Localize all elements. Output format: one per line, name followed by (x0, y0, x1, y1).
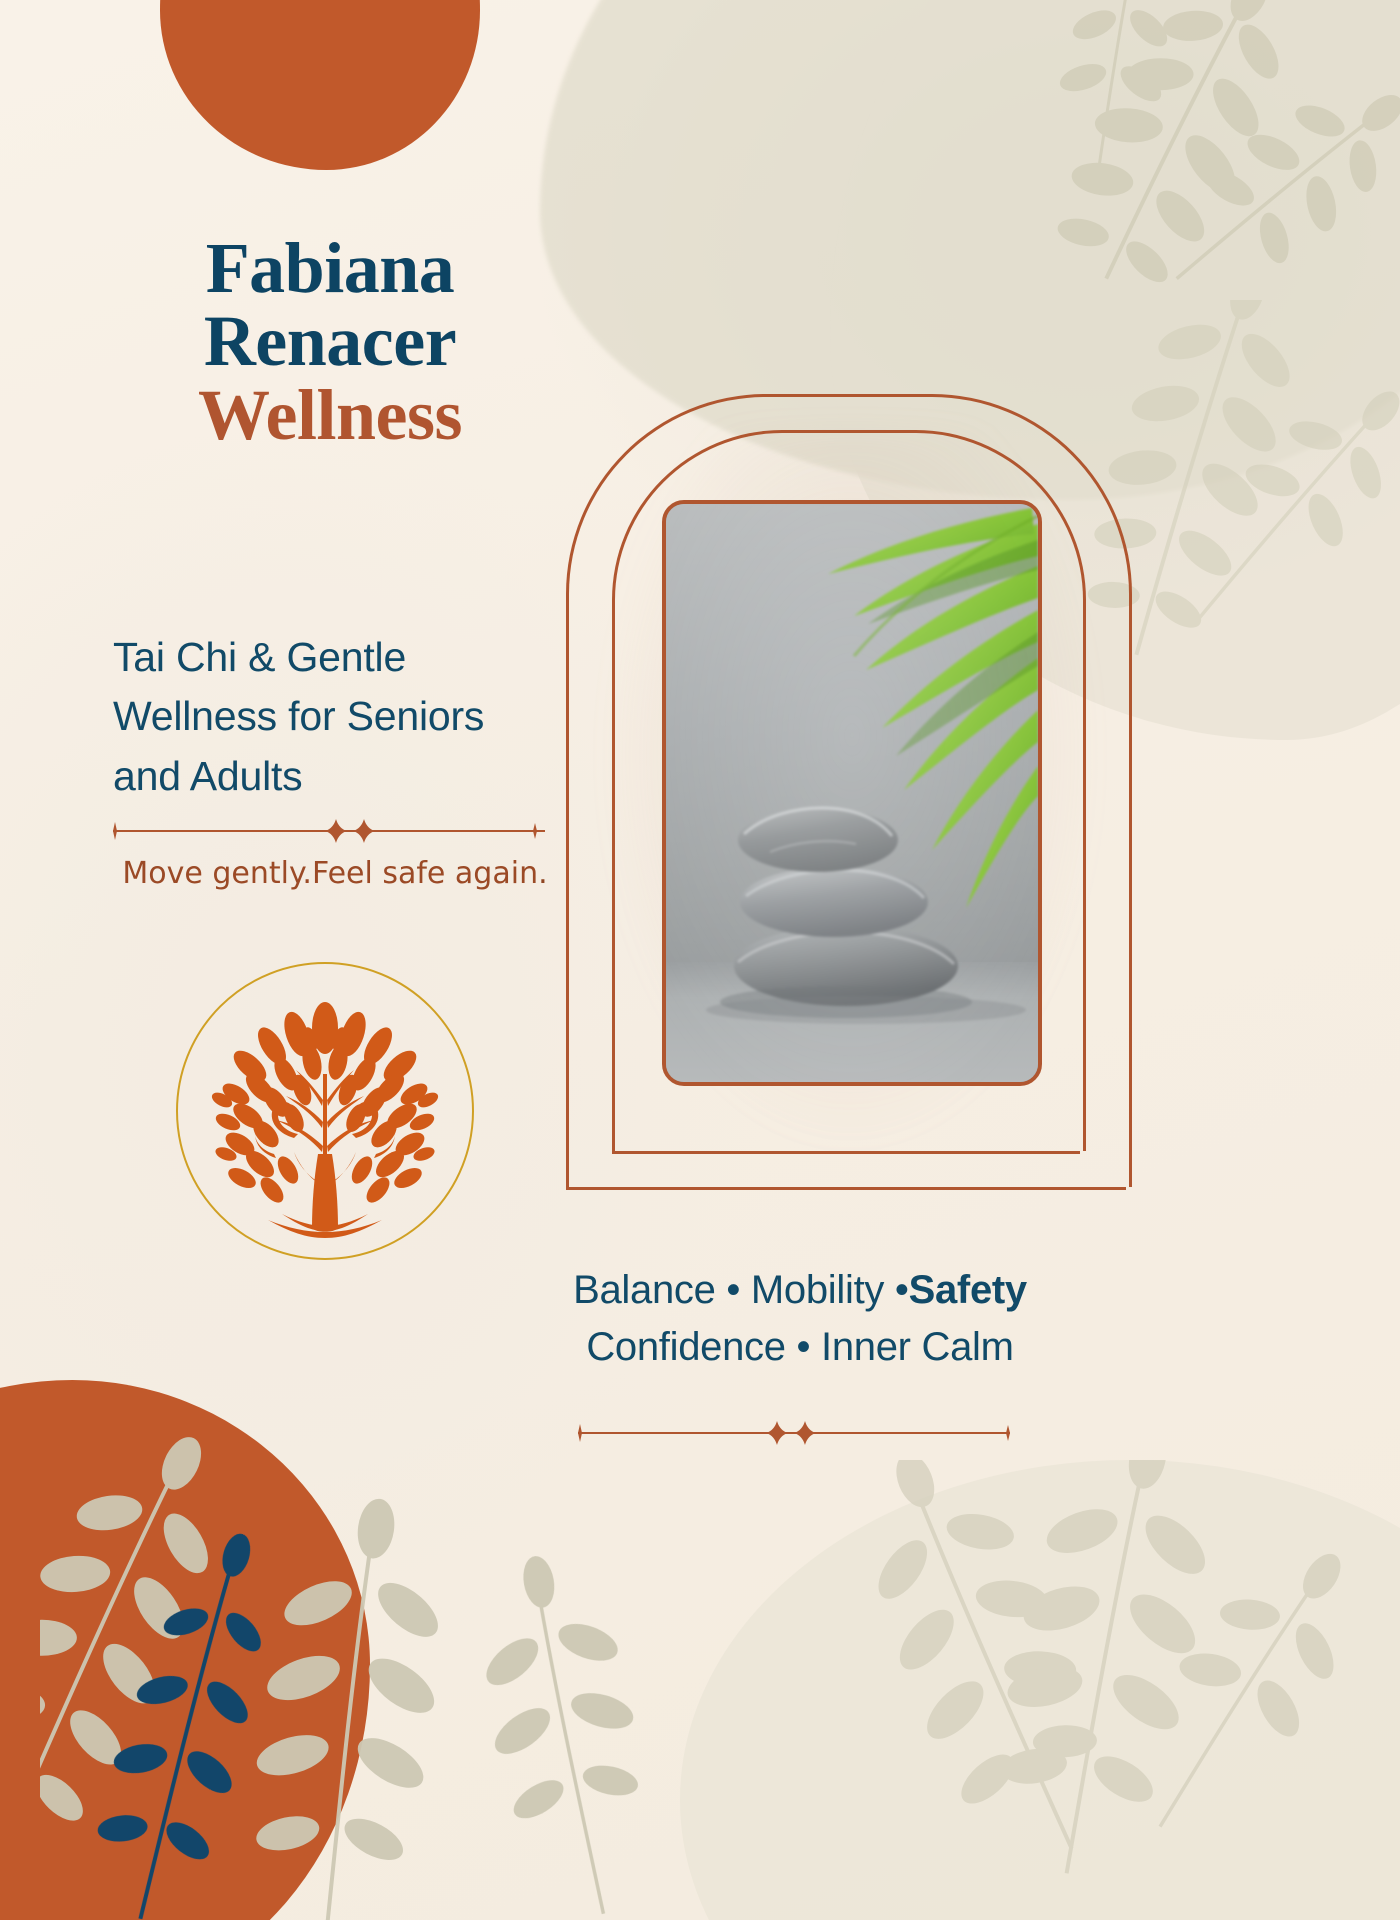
keyword-safety: Safety (909, 1268, 1027, 1312)
title-accent-line: Wellness (95, 379, 565, 452)
keywords-line-1-regular: Balance • Mobility • (573, 1268, 909, 1312)
subheading-line-1: Tai Chi & Gentle (113, 628, 553, 687)
subheading-line-2: Wellness for Seniors (113, 687, 553, 746)
tree-of-life-icon (202, 982, 448, 1244)
brand-logo (176, 962, 474, 1260)
keywords-line-1: Balance • Mobility •Safety (500, 1262, 1100, 1319)
ornamental-divider-top (105, 818, 553, 844)
keywords-line-2: Confidence • Inner Calm (500, 1319, 1100, 1376)
title-line-2: Renacer (204, 301, 456, 381)
page-title: Fabiana Renacer Wellness (95, 232, 565, 452)
subheading-line-3: and Adults (113, 747, 553, 806)
subheading: Tai Chi & Gentle Wellness for Seniors an… (113, 628, 553, 806)
tagline-text: Move gently.Feel safe again (122, 856, 538, 891)
keywords-list: Balance • Mobility •Safety Confidence • … (500, 1262, 1100, 1376)
wellness-poster: Fabiana Renacer Wellness Tai Chi & Gentl… (0, 0, 1400, 1920)
tagline-period: . (538, 856, 548, 891)
hero-photo (662, 500, 1042, 1086)
tagline: Move gently.Feel safe again. (100, 856, 570, 891)
ornamental-divider-bottom (570, 1420, 1018, 1446)
title-line-1: Fabiana (206, 228, 455, 308)
zen-stones-palm-image (666, 504, 1038, 1082)
